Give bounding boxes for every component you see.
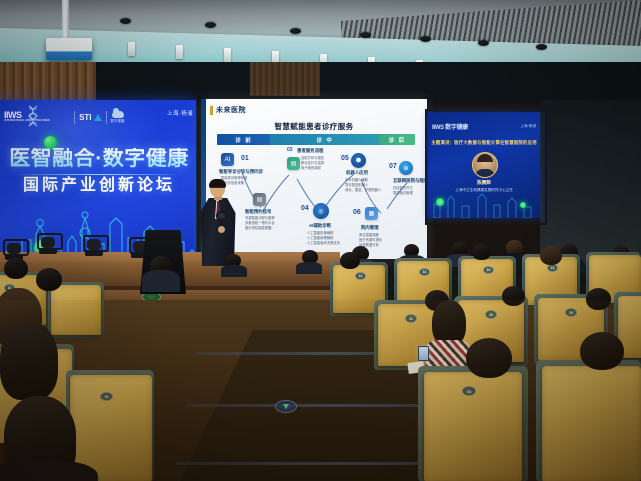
banner-title-rule — [12, 174, 184, 175]
microphone-head — [218, 213, 225, 219]
moving-head-light — [2, 240, 26, 260]
iiws-logo: IIWS INTERNATIONAL INNOVATION WEEK — [4, 111, 50, 123]
logo-divider — [74, 111, 75, 124]
calendar-icon: ▤ — [253, 193, 266, 206]
side-skyline-graphic — [428, 192, 540, 218]
robot-icon: ⬢ — [351, 153, 366, 168]
ceiling-downlight — [176, 45, 183, 59]
flow-node-04-number: 04 — [301, 205, 309, 212]
ai-chat-icon: AI — [221, 153, 234, 166]
phone-screen[interactable] — [418, 346, 429, 361]
slide-title: 智慧赋能患者诊疗服务 — [201, 121, 427, 132]
seat-number-badge: 11 — [405, 314, 417, 323]
audience-head — [586, 288, 611, 310]
ceiling-spotlight — [360, 32, 371, 38]
flow-node-06: ▦ — [365, 207, 378, 220]
seat-number-badge: 13 — [100, 392, 113, 401]
flow-node-02-bullet: 候诊排队智能提醒 — [245, 226, 271, 231]
digital-health-logo-text: 数字健康 — [111, 119, 125, 124]
sti-logo-text: STI — [79, 113, 91, 122]
audience-shoulders — [142, 270, 180, 292]
seat-number-badge: 11 — [355, 272, 366, 280]
audience-head — [36, 268, 62, 291]
flow-node-05-number: 05 — [341, 155, 349, 162]
seat-back[interactable] — [51, 285, 101, 335]
side-screen-logo: IIWS 数字健康 — [432, 122, 468, 131]
ceiling-spotlight — [290, 28, 301, 34]
ceiling-projector — [46, 38, 92, 60]
flow-node-07-label: 互联网医院与随访 — [393, 178, 427, 184]
dna-helix-icon — [26, 105, 40, 127]
audience-head — [466, 338, 512, 378]
moving-head-light — [82, 236, 106, 256]
seat-number-badge: 14 — [462, 386, 476, 396]
slide-phase-bar: 诊 前 诊 中 诊 后 — [217, 134, 415, 145]
audience-head — [0, 322, 58, 400]
cloud-icon — [112, 111, 124, 118]
speaker-name: 陈赛辉 — [428, 180, 540, 186]
ceiling-spotlight — [478, 40, 489, 46]
ceiling-spotlight — [120, 18, 131, 24]
banner-logo-row: IIWS INTERNATIONAL INNOVATION WEEK STI — [4, 104, 192, 130]
ceiling-spotlight — [536, 44, 547, 50]
projector-mount-arm — [62, 0, 69, 40]
audience-shoulders — [296, 262, 322, 274]
flow-node-06-number: 06 — [353, 209, 361, 216]
flow-node-04-label: AI辅助诊断 — [309, 223, 331, 229]
slide-header-label: 未来医院 — [216, 105, 246, 115]
flow-node-07-bullet: 智能随访管理 — [393, 191, 413, 196]
document-icon: ▤ — [287, 157, 300, 170]
seat-number-badge: 12 — [485, 310, 497, 319]
digital-health-logo: 数字健康 — [111, 111, 125, 124]
banner-title-sub: 国际产业创新论坛 — [8, 178, 190, 195]
flow-node-03-number: 03 — [287, 147, 293, 153]
audience-shoulders — [0, 460, 98, 481]
flow-node-01-label: 智能导诊分诊与预问诊 — [219, 169, 263, 175]
flow-node-04-bullet: 人工智能临床决策支持 — [307, 241, 340, 246]
conference-photo-scene: IIWS INTERNATIONAL INNOVATION WEEK STI — [0, 0, 641, 481]
ai-brain-icon: ◎ — [313, 203, 329, 219]
audience-head — [4, 258, 28, 279]
phase-pre-consult: 诊 前 — [217, 134, 270, 145]
phase-post-consult: 诊 后 — [379, 134, 415, 145]
logo-divider — [106, 111, 107, 124]
seat-number-badge: 14 — [547, 264, 558, 272]
right-wall — [540, 100, 641, 265]
avatar-hair — [477, 154, 493, 162]
seat-back[interactable] — [542, 366, 641, 481]
presenter-hand — [218, 226, 225, 233]
audience-head — [502, 286, 525, 306]
floor-direction-badge — [275, 400, 297, 413]
ceiling-downlight — [128, 42, 135, 56]
flow-node-02-label: 智能预约挂号 — [245, 209, 271, 215]
audience-head — [580, 332, 624, 370]
flow-node-05: ⬢ — [351, 153, 366, 168]
side-screen-location: 上海·杨浦 — [520, 124, 536, 129]
phase-during-consult: 诊 中 — [270, 134, 379, 145]
glasses-icon — [211, 187, 224, 191]
flow-node-05-label: 机器人应用 — [346, 170, 368, 176]
seat-number-badge: 13 — [483, 266, 494, 274]
avatar-body — [475, 169, 495, 177]
flow-node-01-number: 01 — [241, 155, 249, 162]
audience-head — [340, 252, 360, 269]
flow-node-06-label: 院内管理 — [361, 225, 379, 231]
moving-head-light — [36, 234, 60, 254]
banner-location: 上海·杨浦 — [167, 109, 193, 117]
flow-node-03: ▤ — [287, 157, 300, 170]
seat-number-badge: 12 — [419, 268, 430, 276]
dashboard-icon: ▦ — [365, 207, 378, 220]
network-icon: ⊕ — [399, 161, 413, 175]
flow-node-02: ▤ — [253, 193, 266, 206]
ceiling-spotlight — [205, 22, 216, 28]
flow-node-03-bullet: 电子病历调阅 — [301, 166, 321, 171]
flow-node-07: ⊕ — [399, 161, 413, 175]
ceiling-downlight — [224, 48, 231, 62]
flow-node-01: AI — [221, 153, 234, 166]
sti-logo: STI — [79, 113, 101, 122]
ceiling-spotlight — [420, 36, 431, 42]
flow-node-03-label: 患者服务流程 — [297, 148, 323, 154]
flow-node-04: ◎ — [313, 203, 329, 219]
banner-title-main: 医智融合·数字健康 — [8, 148, 190, 169]
speaker-avatar — [472, 152, 498, 178]
flow-node-07-number: 07 — [389, 163, 397, 170]
audience-head — [540, 246, 562, 265]
audience-shoulders — [221, 265, 247, 277]
slide-header-tag — [210, 106, 213, 115]
flow-node-05-bullet: 消毒、康复、护理机器人 — [345, 188, 381, 193]
seat-number-badge: 13 — [565, 308, 577, 317]
side-screen: IIWS 数字健康 上海·杨浦 主题演讲：医疗大数据与智能计算在智慧医院的应用 … — [428, 112, 540, 218]
side-screen-topic: 主题演讲：医疗大数据与智能计算在智慧医院的应用 — [428, 140, 540, 146]
triangle-icon — [94, 114, 102, 121]
audience-head — [472, 244, 491, 260]
